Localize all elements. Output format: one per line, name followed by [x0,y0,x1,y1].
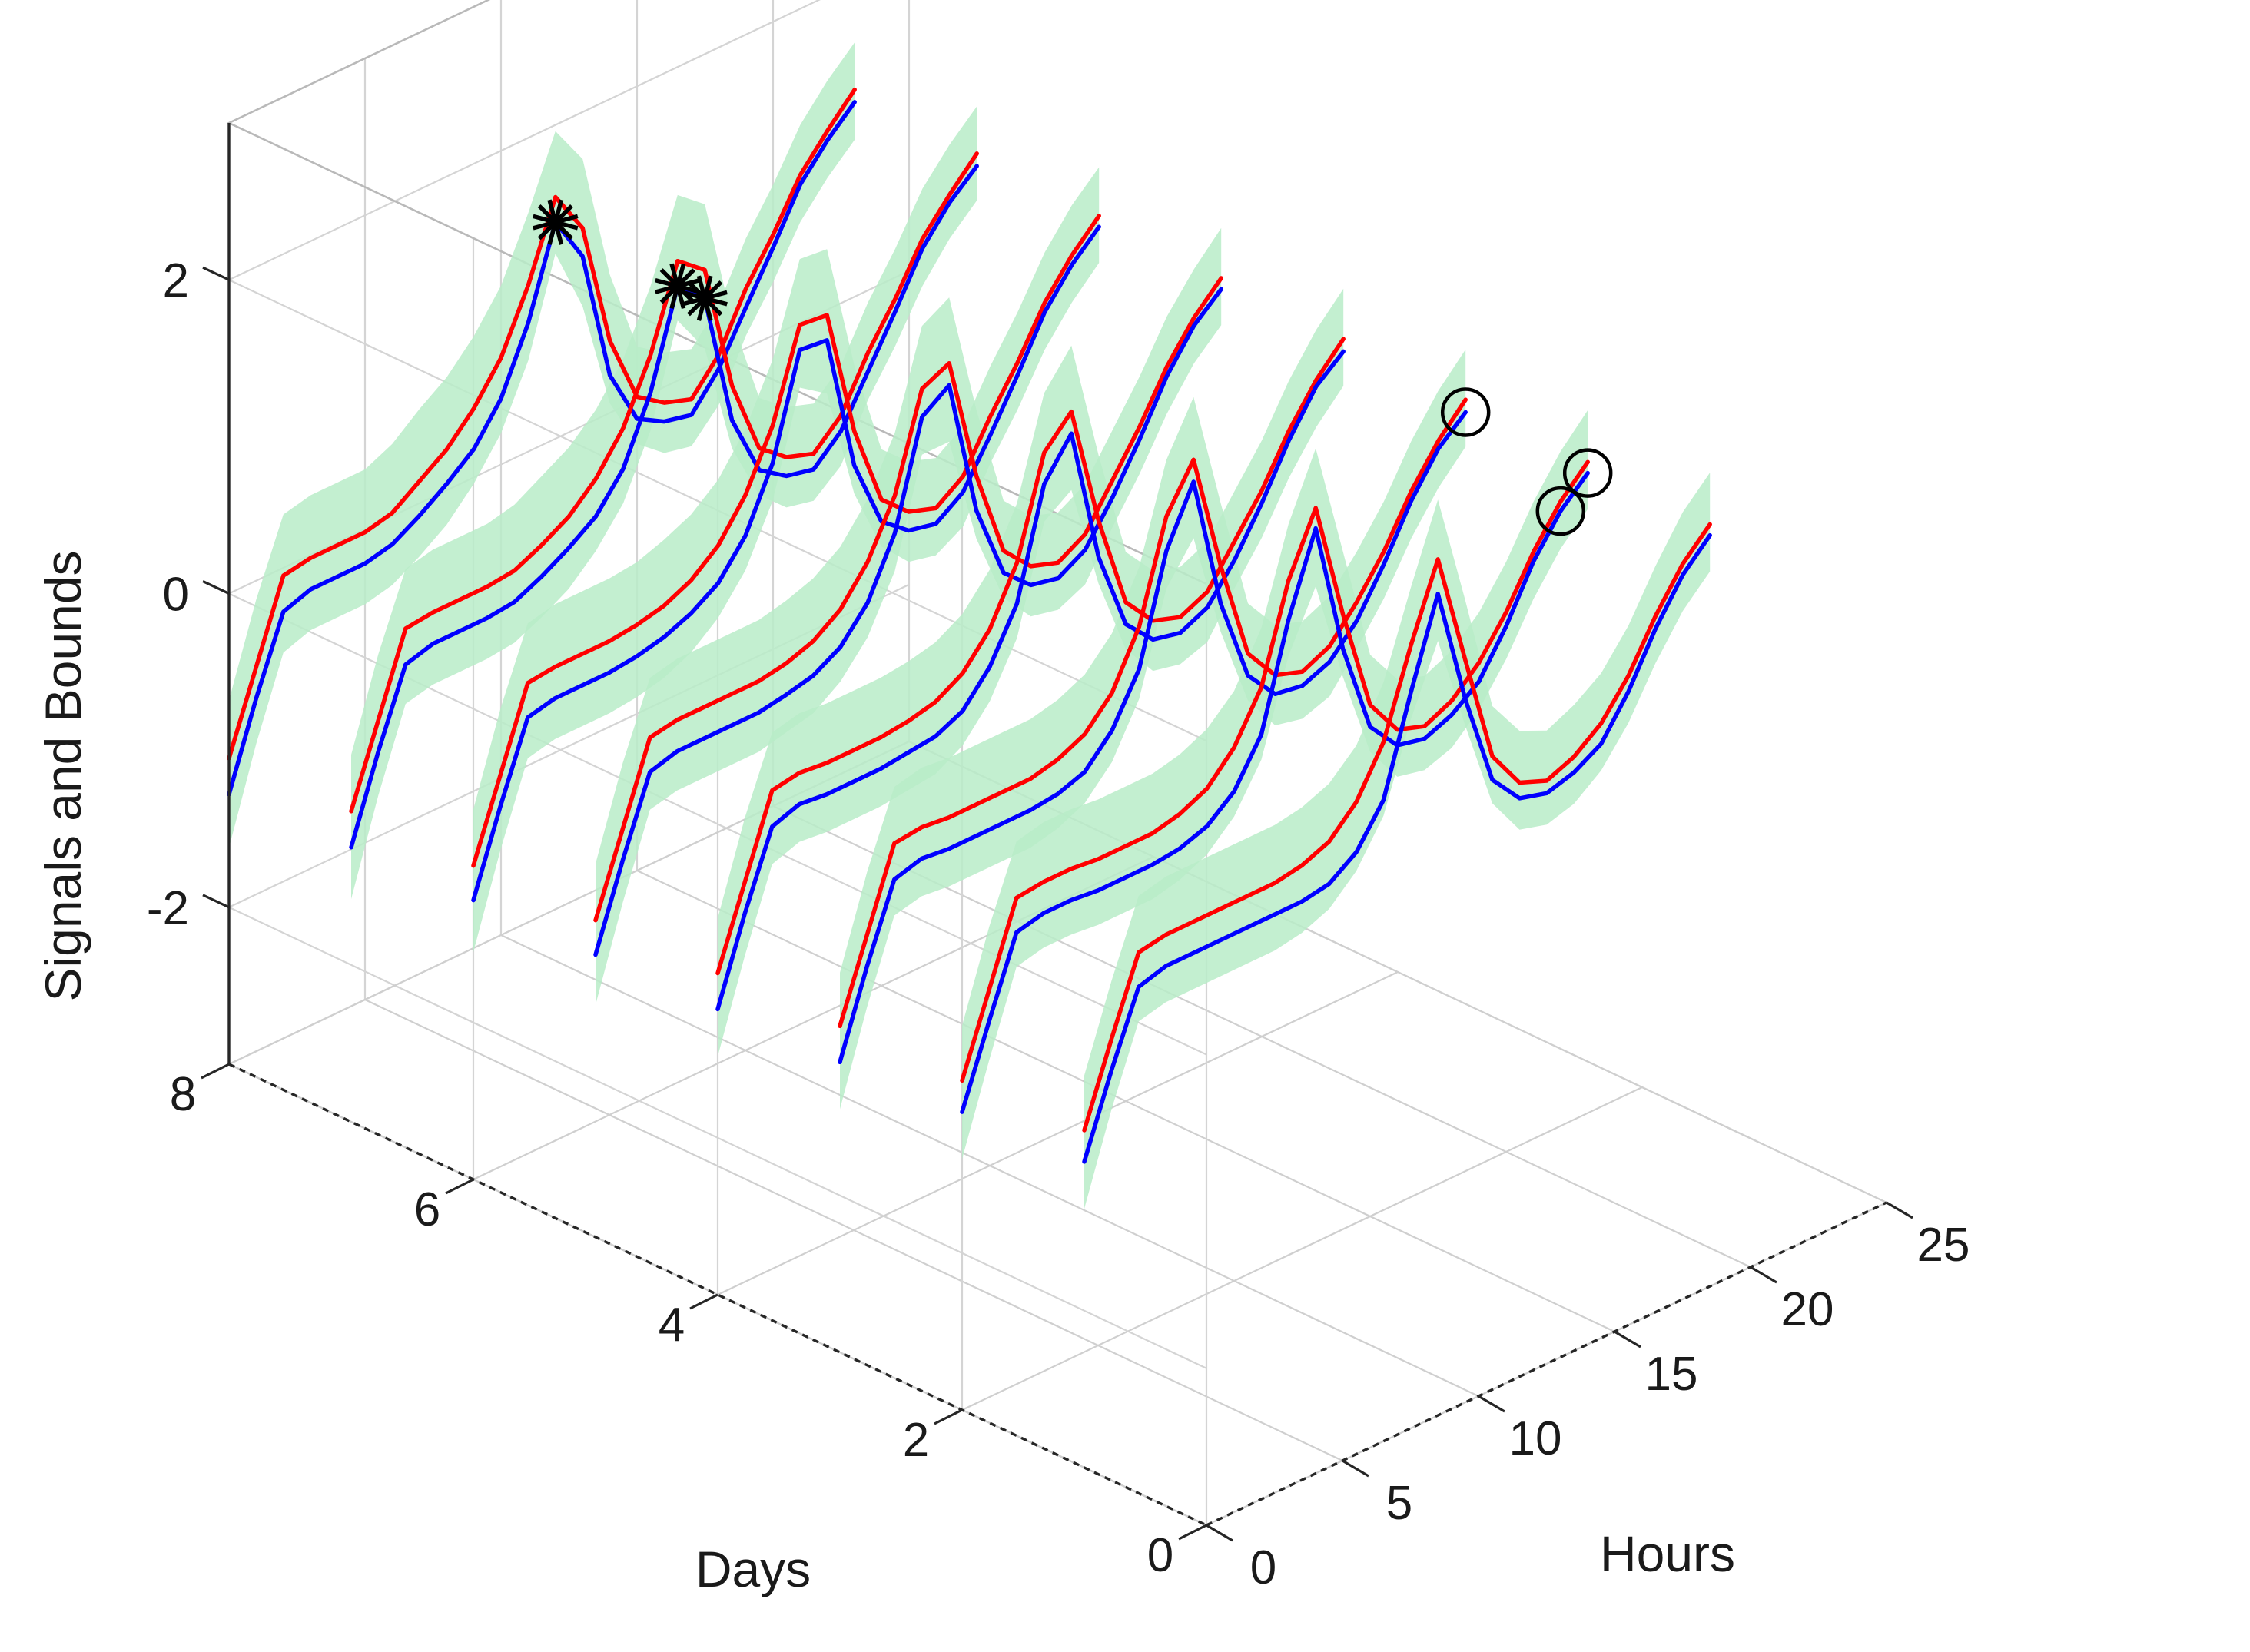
z-tick [203,267,229,280]
days-tick-label: 6 [414,1183,440,1236]
z-tick [203,895,229,907]
days-tick [690,1295,718,1309]
hours-tick-label: 25 [1917,1219,1970,1272]
figure-canvas: -202024680510152025 Days Hours Signals a… [0,0,2250,1652]
uncertainty-bands [229,42,1710,1209]
z-tick [203,582,229,594]
days-tick-label: 4 [659,1299,685,1352]
hours-tick [1342,1461,1369,1476]
hours-tick-label: 5 [1386,1477,1412,1530]
hours-tick [1206,1525,1233,1541]
days-tick-label: 0 [1147,1529,1173,1582]
hours-tick [1478,1396,1505,1411]
days-tick [446,1179,473,1193]
days-tick-label: 2 [903,1414,929,1467]
hours-tick [1751,1267,1777,1282]
axis-title-signals-and-bounds: Signals and Bounds [35,550,91,1001]
hours-tick-label: 20 [1781,1283,1834,1336]
hours-tick-label: 0 [1250,1541,1276,1594]
days-tick-label: 8 [170,1068,196,1121]
days-tick [201,1064,229,1078]
axis-title-days: Days [695,1541,811,1597]
z-tick-label: 0 [163,569,189,622]
days-tick [934,1410,962,1424]
axis-title-hours: Hours [1600,1525,1735,1582]
waterfall-3d-plot: -202024680510152025 Days Hours Signals a… [0,0,2250,1652]
days-tick [1179,1525,1206,1539]
hours-tick [1614,1332,1641,1347]
hours-tick [1887,1203,1913,1218]
hours-tick-label: 15 [1645,1348,1698,1401]
z-tick-label: 2 [163,254,189,307]
z-tick-label: -2 [147,882,189,935]
hours-tick-label: 10 [1509,1412,1562,1465]
